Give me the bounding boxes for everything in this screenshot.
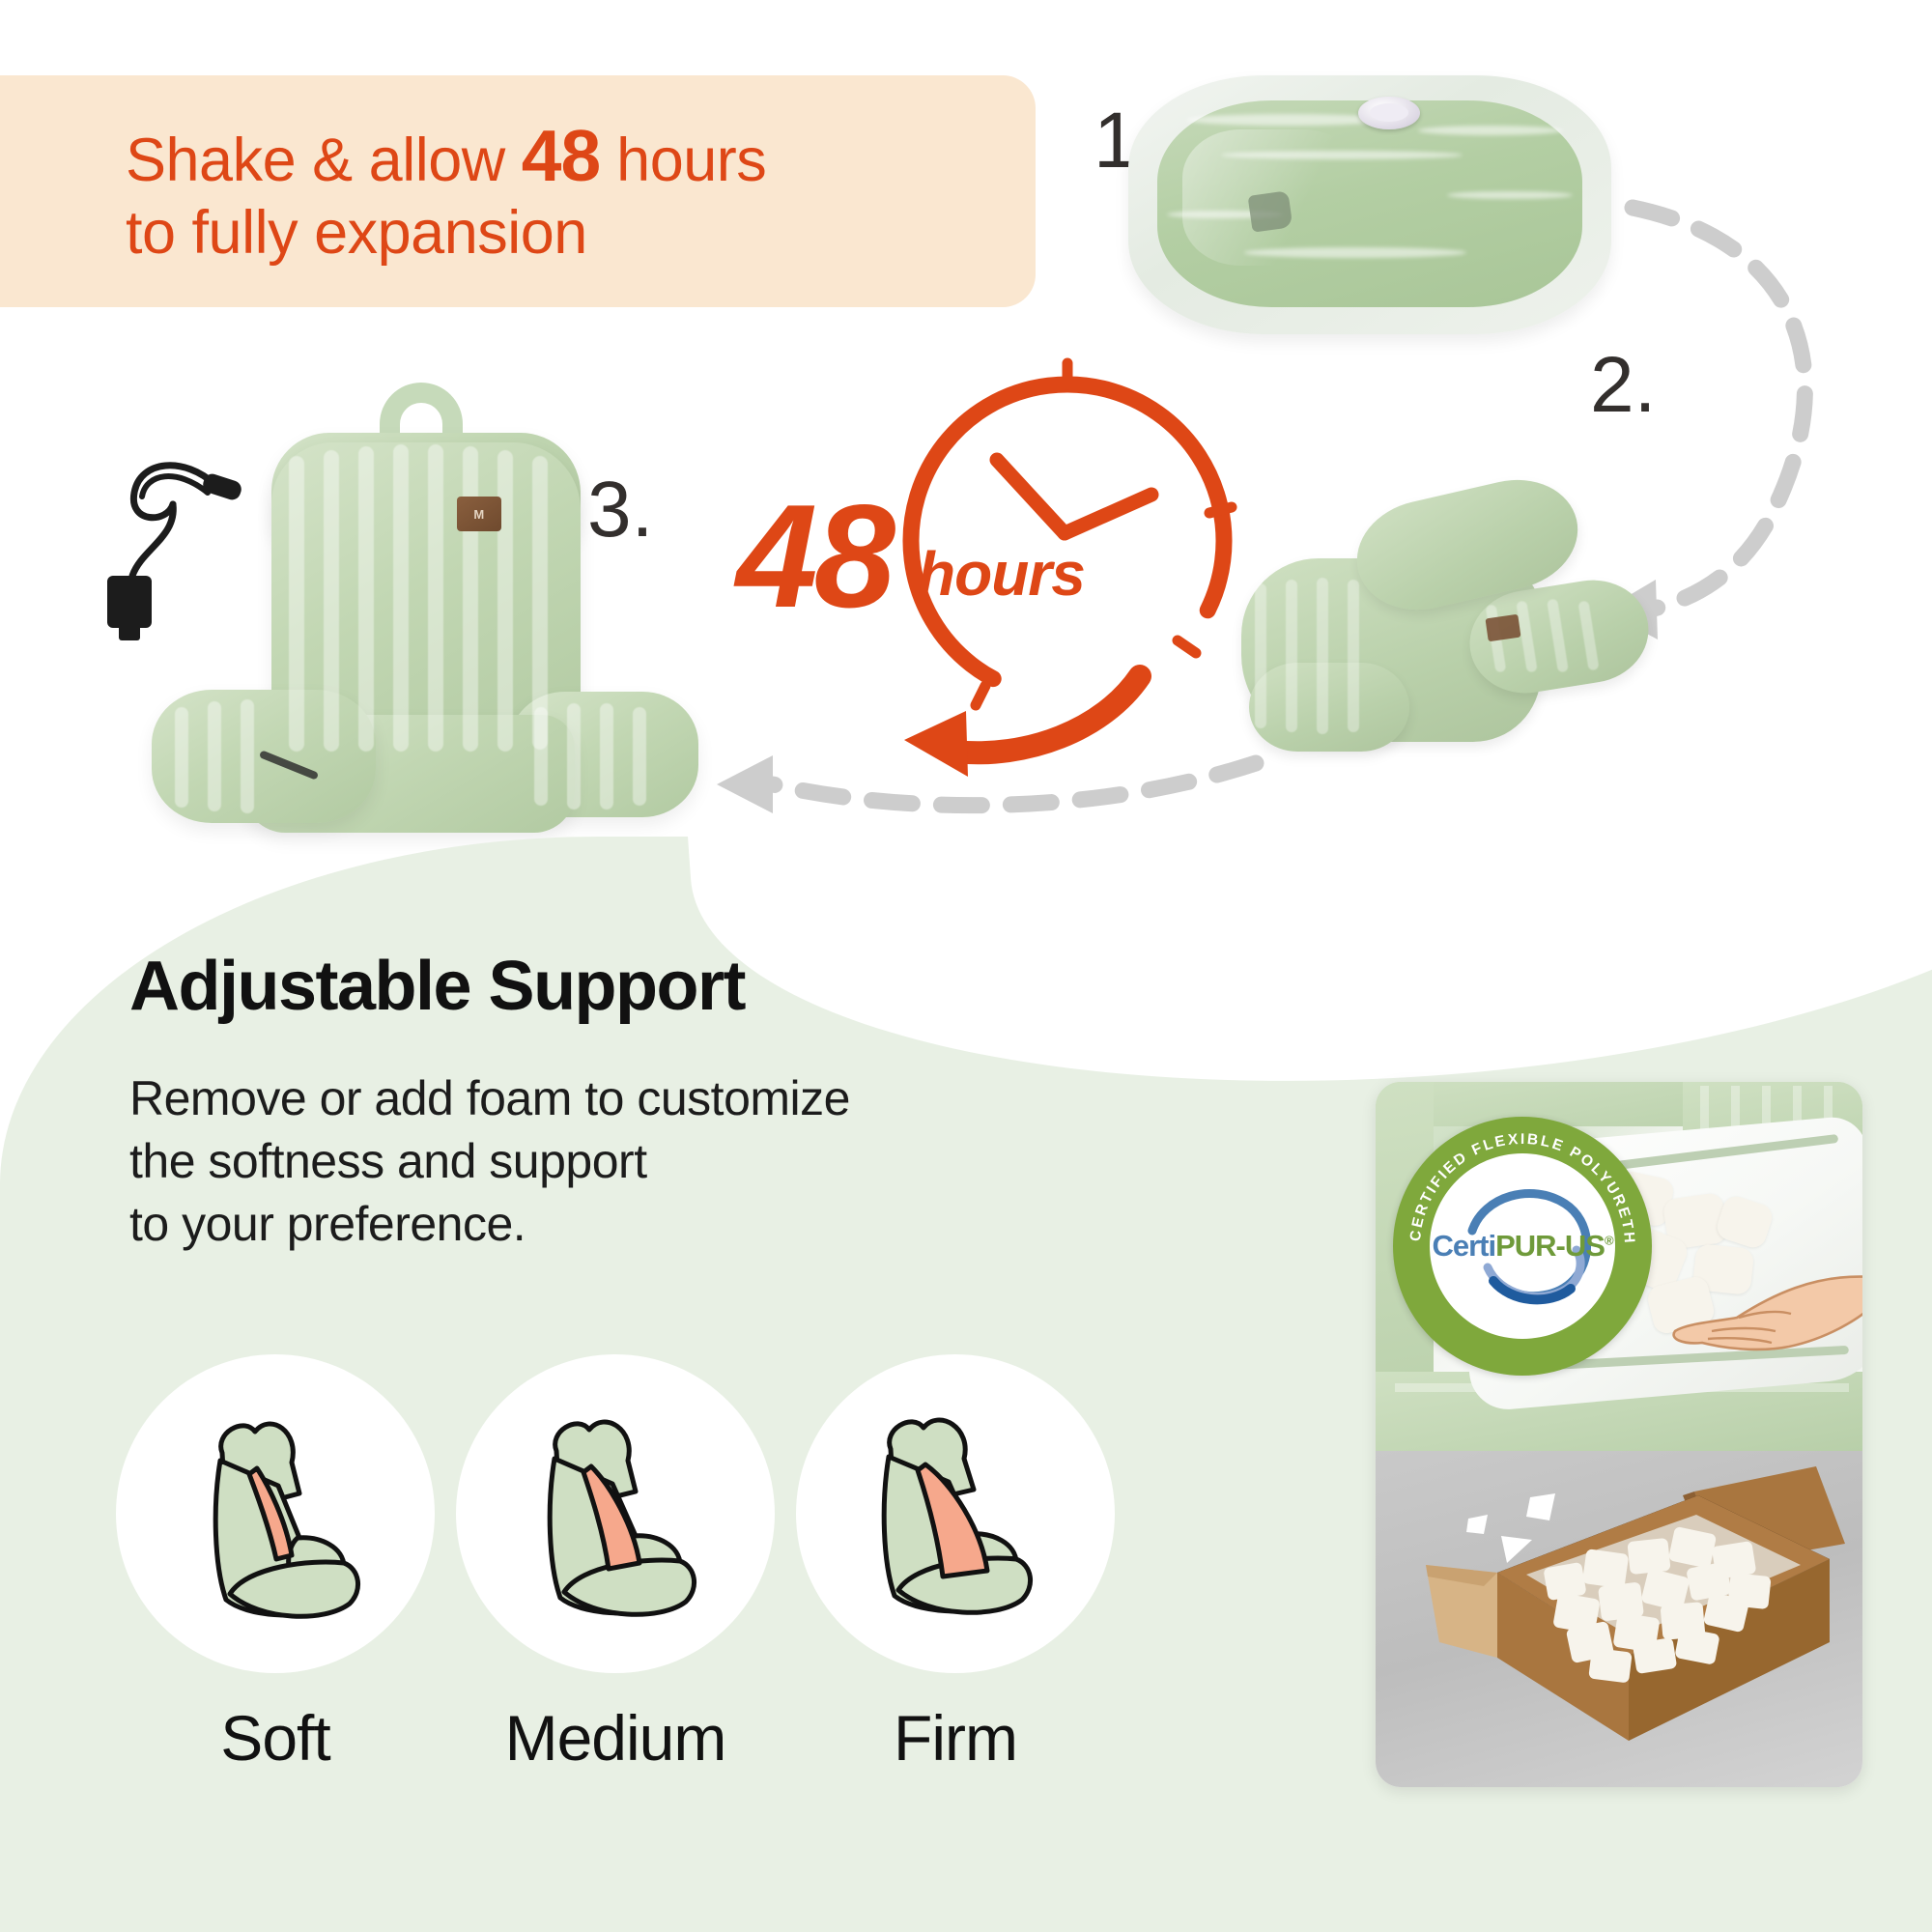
bag-crease [1447,191,1573,199]
certipur-us-badge: CONTAINS CERTIFIED FLEXIBLE POLYURETHANE… [1393,1117,1652,1376]
dashed-arc-2-to-3 [773,763,1256,806]
pillow-rib [175,707,188,808]
compressed-pillow-bag-photo [1128,75,1611,334]
certipur-wordmark: CertiPUR-US® [1432,1229,1612,1264]
section-body-text: Remove or add foam to customize the soft… [129,1067,850,1256]
bag-crease [1244,247,1466,258]
pillow-cross-section-icon [155,1393,396,1634]
brand-tag-label: M [473,507,484,522]
badge-inner-disc: CertiPUR-US® [1430,1153,1615,1339]
pillow-rib [324,450,339,752]
pillow-rib [1348,580,1359,732]
pillow-rib [358,446,374,752]
firmness-label: Medium [456,1706,775,1770]
48-hours-clock-graphic: 48 hours [715,319,1256,734]
expanded-reading-pillow-photo: M [92,396,691,850]
pillow-cross-section-icon [495,1393,736,1634]
headline-line2: to fully expansion [126,199,587,267]
pillow-rib [600,703,613,810]
pillow-foot [1249,663,1409,752]
sparkle-icon [1466,1493,1555,1563]
firmness-label: Firm [796,1706,1115,1770]
pillow-rib [1286,580,1297,732]
brand-leather-tag: M [457,497,501,531]
power-cord [92,396,285,647]
section-title: Adjustable Support [129,952,745,1021]
headline-hours-number: 48 [522,115,600,196]
pillow-rib [1255,583,1266,728]
dashed-arc-1-to-2 [1633,208,1804,609]
pillow-rib [463,446,478,752]
bag-crease [1221,151,1463,159]
headline-text: Shake & allow 48 hours to fully expansio… [0,114,766,269]
arrow-head-to-step3 [717,755,773,813]
firmness-option-medium[interactable]: Medium [456,1354,775,1770]
pillow-rib [532,456,548,750]
pillow-rib [633,707,646,806]
pillow-rib [1317,578,1328,734]
pillow-rib [428,444,443,752]
pillow-rib [567,703,581,810]
registered-mark: ® [1605,1234,1613,1248]
headline-line1-pre: Shake & allow [126,127,522,194]
firmness-option-firm[interactable]: Firm [796,1354,1115,1770]
pillow-rib [393,444,409,752]
headline-banner: Shake & allow 48 hours to fully expansio… [0,75,1036,307]
certipur-word-a: Certi [1432,1229,1495,1263]
infographic-canvas: Shake & allow 48 hours to fully expansio… [0,0,1932,1932]
plastic-vacuum-bag [1128,75,1611,334]
pillow-rib [534,707,548,806]
pillow-rib [241,699,254,813]
hand-icon [1669,1271,1862,1364]
cardboard-box-illustration [1376,1451,1862,1787]
firmness-illustration-circle [116,1354,435,1673]
certipur-word-b: PUR-US [1495,1229,1605,1263]
clock-unit: hours [918,543,1085,605]
headline-line1-post: hours [600,127,766,194]
firmness-illustration-circle [796,1354,1115,1673]
firmness-option-soft[interactable]: Soft [116,1354,435,1770]
foam-cubes-box-photo [1376,1451,1862,1787]
firmness-options-row: Soft Medium [116,1354,1217,1876]
pillow-rib [289,456,304,752]
bag-nozzle [1248,190,1293,232]
firmness-label: Soft [116,1706,435,1770]
brand-leather-tag [1485,614,1520,641]
partially-expanded-pillow-photo [1241,483,1647,763]
vacuum-valve-icon [1358,97,1420,129]
pillow-cross-section-icon [835,1393,1076,1634]
clock-number: 48 [736,483,892,630]
pillow-rib [497,450,513,752]
firmness-illustration-circle [456,1354,775,1673]
pillow-rib [208,701,221,811]
bag-crease [1418,126,1563,135]
step-number-2: 2. [1590,346,1656,425]
power-adapter-plug [107,576,152,628]
